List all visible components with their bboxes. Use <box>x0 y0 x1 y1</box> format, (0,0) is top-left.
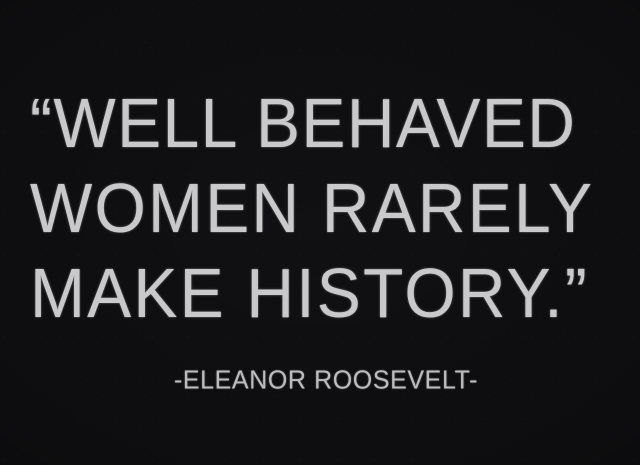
attribution-text: -ELEANOR ROOSEVELT- <box>174 365 478 395</box>
quote-text-block: “WELL BEHAVED WOMEN RARELY MAKE HISTORY.… <box>30 78 610 333</box>
attribution-block: -ELEANOR ROOSEVELT- <box>0 366 640 395</box>
quote-poster: “WELL BEHAVED WOMEN RARELY MAKE HISTORY.… <box>0 0 640 465</box>
quote-line-2: WOMEN RARELY <box>30 163 610 253</box>
quote-line-1: “WELL BEHAVED <box>30 78 610 168</box>
quote-line-3: MAKE HISTORY.” <box>30 248 610 338</box>
